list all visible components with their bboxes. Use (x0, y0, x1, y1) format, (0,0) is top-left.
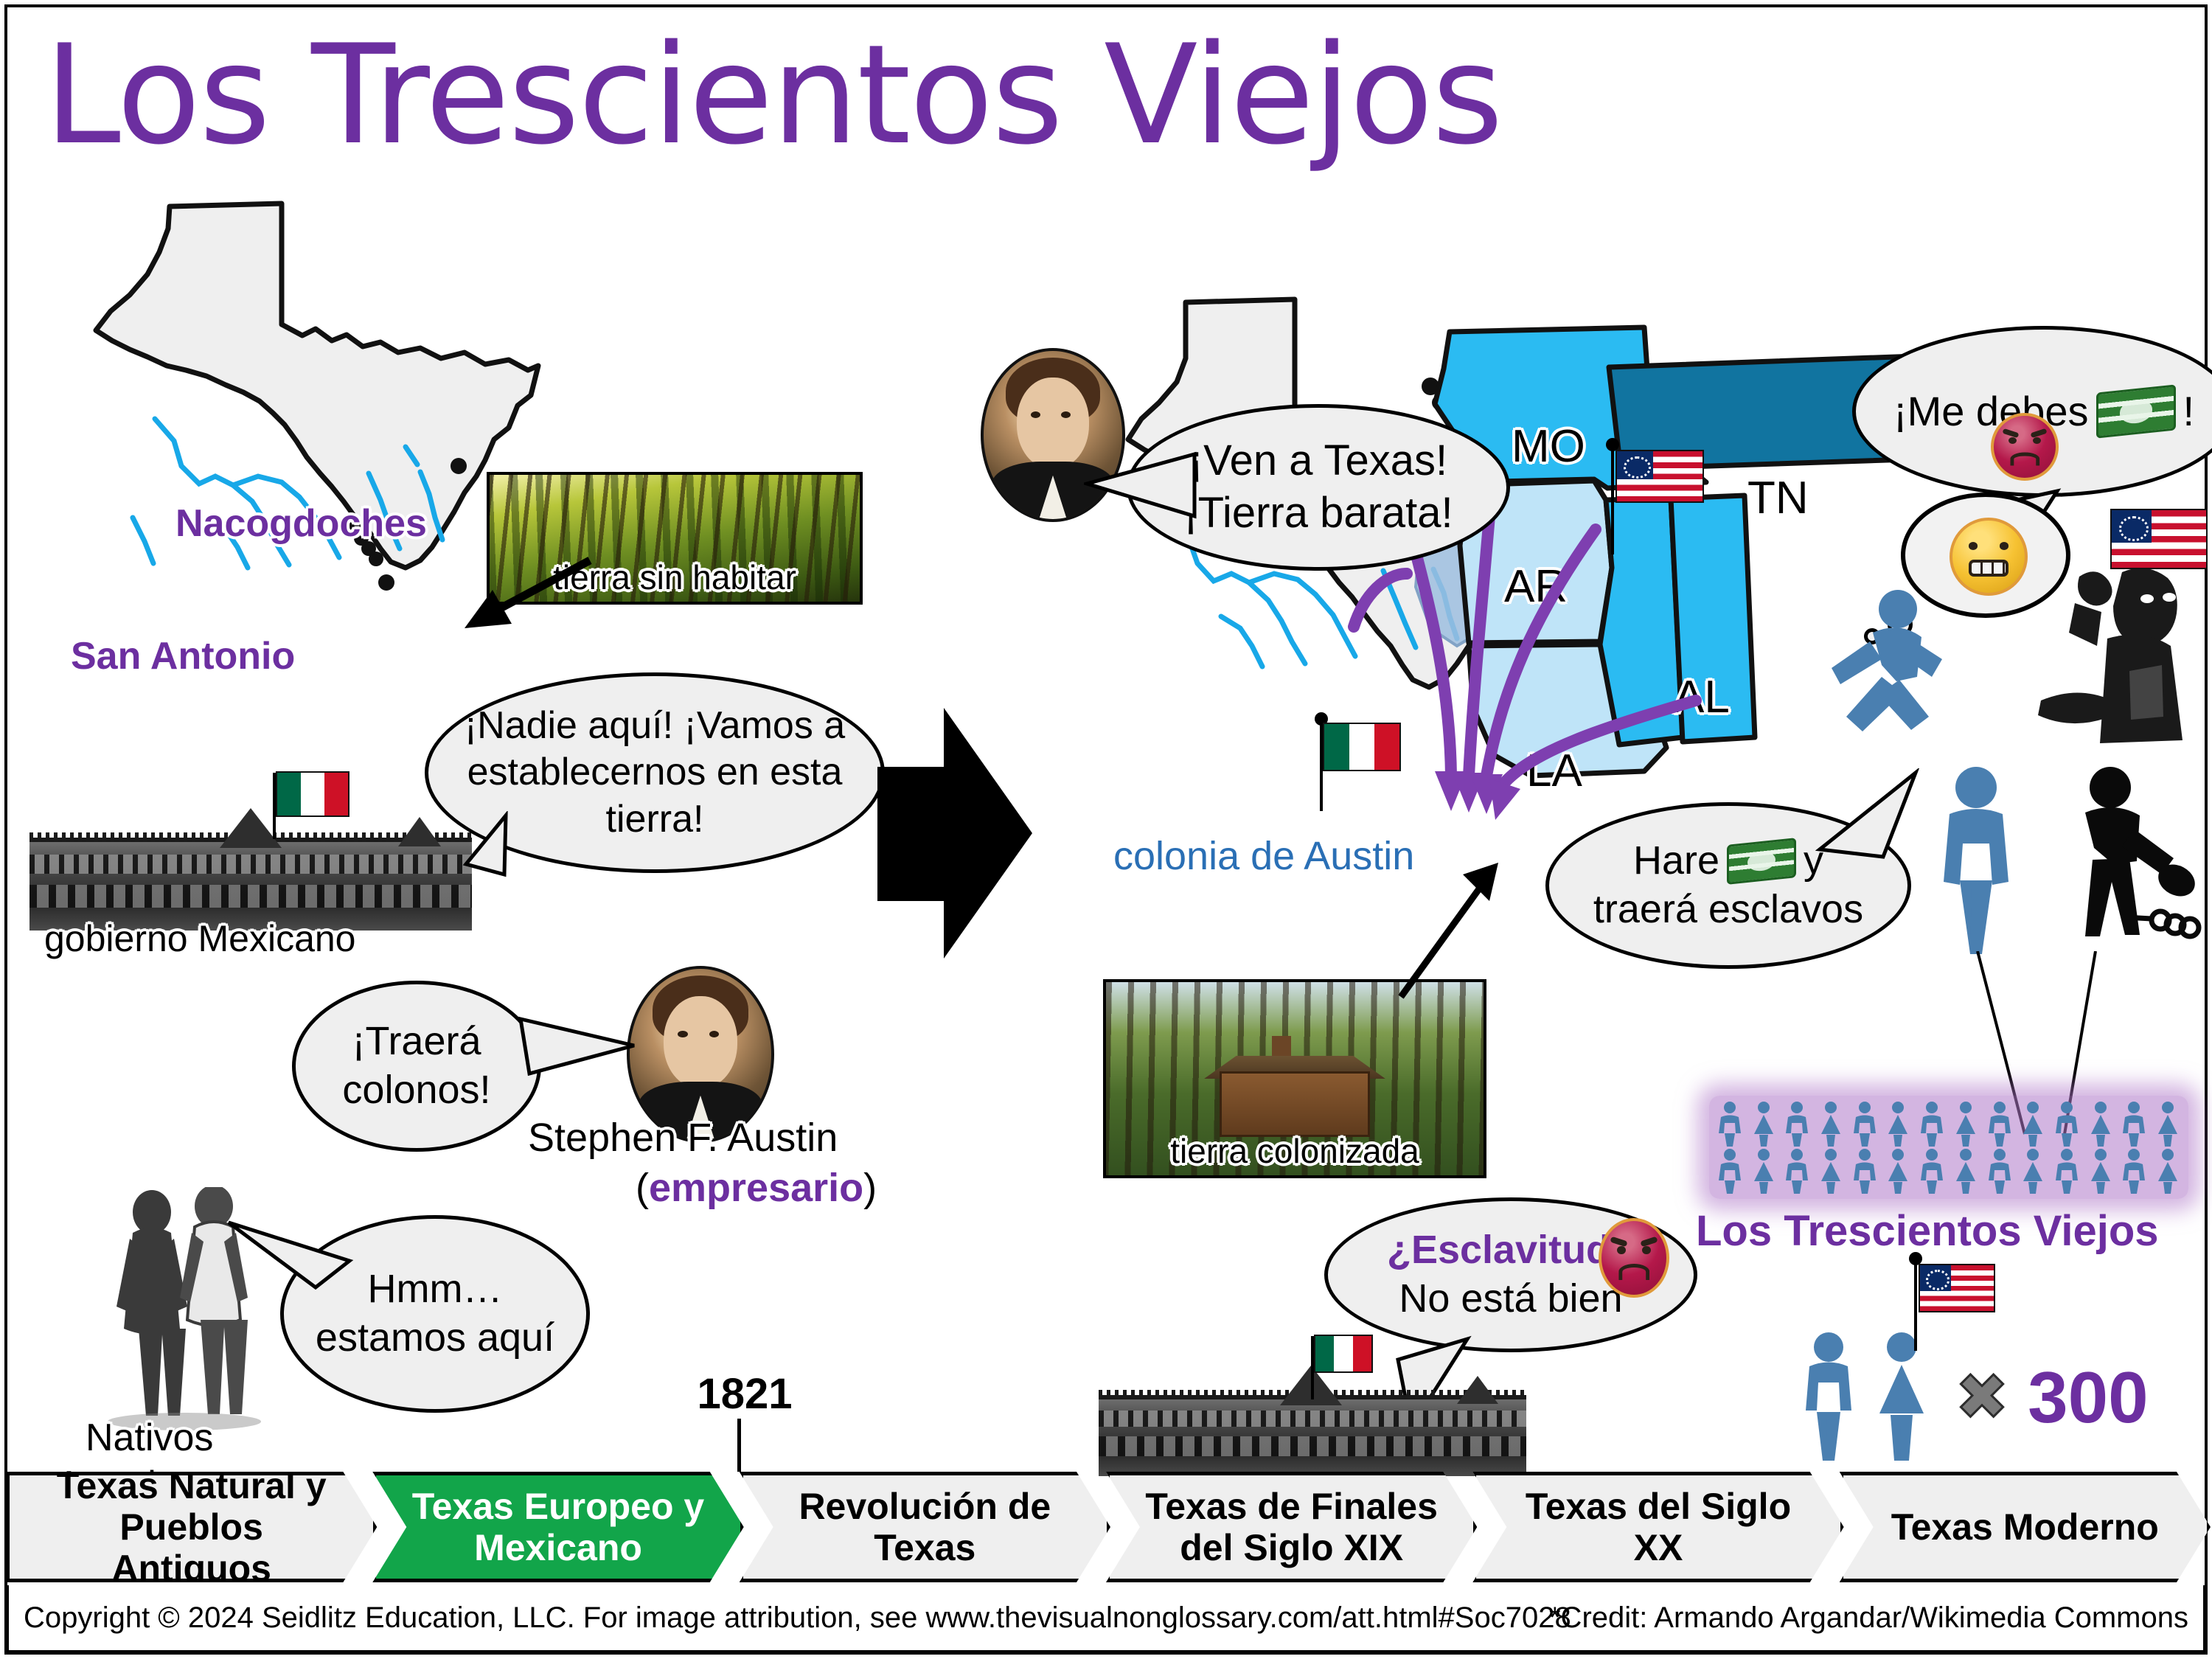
three-hundred-count-row: ✖ 300 (1799, 1320, 2183, 1475)
bubble-tail (1084, 442, 1202, 531)
money-icon (1727, 838, 1796, 885)
bubble-tail (395, 811, 513, 929)
natives-label-line1: Nativos (86, 1416, 213, 1460)
timeline-segment-texas-moderno[interactable]: Texas Moderno (1840, 1472, 2211, 1582)
timeline-year-tick (737, 1419, 741, 1472)
paren-close: ) (863, 1166, 877, 1210)
money-icon (2096, 384, 2176, 438)
state-label-tn: TN (1747, 472, 1809, 524)
mexican-government-building-2 (1099, 1380, 1526, 1476)
copyright-text: Copyright © 2024 Seidlitz Education, LLC… (24, 1601, 1571, 1635)
footer-bar: Copyright © 2024 Seidlitz Education, LLC… (6, 1585, 2206, 1653)
forest-pointer-arrow (435, 546, 597, 641)
timeline-segment-texas-europeo-mexicano[interactable]: Texas Europeo y Mexicano (372, 1472, 743, 1582)
debt-bubble-text-pre: ¡Me debes (1893, 386, 2089, 437)
photo-caption: tierra colonizada (1106, 1131, 1484, 1171)
crowd-row (1717, 1148, 2181, 1194)
timeline-year-marker: 1821 (664, 1369, 826, 1419)
angry-creditor-figure (2035, 560, 2205, 745)
slavery-term: ¿Esclavitud? (1387, 1228, 1635, 1272)
mexico-flag (276, 771, 349, 817)
mexican-government-label: gobierno Mexicano (44, 917, 356, 960)
enslaved-worker-icon (2057, 767, 2205, 951)
bubble-text: ¡Traerá colonos! (315, 1018, 518, 1115)
usa-flag-corner (2110, 509, 2208, 569)
timeline-segment-siglo-xx[interactable]: Texas del Siglo XX (1472, 1472, 1843, 1582)
crowd-label: Los Trescientos Viejos (1696, 1206, 2159, 1256)
crowd-row (1717, 1101, 2181, 1147)
slaves-bubble-text-post: traerá esclavos (1593, 887, 1863, 931)
angry-face-icon (1599, 1218, 1669, 1298)
colonized-land-photo: tierra colonizada (1103, 979, 1486, 1178)
austin-role-label: (empresario) (636, 1165, 877, 1211)
empresario-term: empresario (649, 1166, 863, 1210)
angry-face-icon (1991, 413, 2059, 481)
slaves-bubble-text-pre: Hare (1633, 837, 1719, 886)
timeline-segment-texas-natural[interactable]: Texas Natural y Pueblos Antiguos (6, 1472, 377, 1582)
debt-bubble-text-post: ! (2183, 386, 2195, 437)
three-hundred-crowd (1709, 1096, 2188, 1199)
map-label-nacogdoches: Nacogdoches (175, 501, 427, 546)
bubble-tail (221, 1217, 354, 1305)
bubble-line-1: ¡Ven a Texas! (1189, 437, 1447, 484)
slavery-objection-line2: No está bien (1399, 1276, 1622, 1321)
austin-will-bring-settlers-bubble: ¡Traerá colonos! (292, 981, 541, 1152)
bubble-line-2: ¡Tierra barata! (1183, 489, 1453, 537)
woman-icon (1870, 1331, 1933, 1464)
timeline-segment-revolucion-de-texas[interactable]: Revolución de Texas (740, 1472, 1110, 1582)
image-credit-text: *Credit: Armando Argandar/Wikimedia Comm… (1549, 1601, 2188, 1635)
map-label-san-antonio: San Antonio (71, 634, 295, 678)
transition-arrow (877, 686, 1040, 981)
bubble-tail (516, 1003, 649, 1099)
mexico-flag (1314, 1335, 1373, 1373)
count-value: 300 (2028, 1356, 2149, 1439)
page-title: Los Trescientos Viejos (44, 27, 2183, 164)
grimace-face-icon (1950, 518, 2028, 596)
infographic-canvas: Los Trescientos Viejos Nacogdoches San A… (0, 0, 2212, 1659)
man-icon (1799, 1331, 1858, 1464)
austin-name-label: Stephen F. Austin (528, 1115, 838, 1161)
timeline-segment-finales-siglo-xix[interactable]: Texas de Finales del Siglo XIX (1106, 1472, 1477, 1582)
colony-pointer-line (1386, 855, 1519, 1003)
texas-map-left (22, 184, 553, 774)
bubble-tail (1805, 768, 1952, 864)
colonist-person-icon (1932, 765, 2020, 957)
era-timeline[interactable]: Texas Natural y Pueblos Antiguos Texas E… (6, 1472, 2206, 1582)
multiply-icon: ✖ (1955, 1360, 2008, 1434)
running-person-icon (1821, 590, 1954, 752)
paren-open: ( (636, 1166, 649, 1210)
